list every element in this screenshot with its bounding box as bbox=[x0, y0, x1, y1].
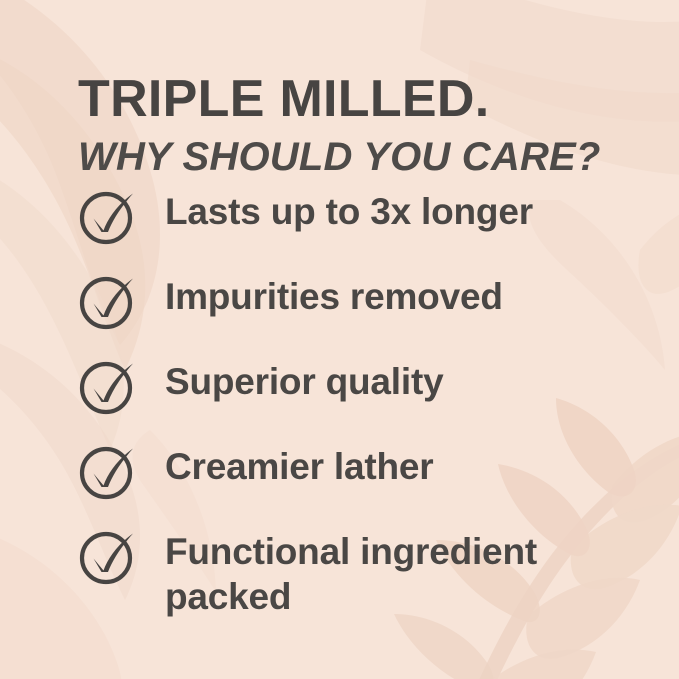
benefit-label: Impurities removed bbox=[165, 271, 638, 319]
benefit-label: Superior quality bbox=[165, 356, 638, 404]
benefit-label: Creamier lather bbox=[165, 441, 638, 489]
list-item: Creamier lather bbox=[78, 441, 638, 526]
benefit-list: Lasts up to 3x longer Impurities removed… bbox=[78, 186, 638, 619]
check-circle-icon bbox=[78, 525, 140, 587]
list-item: Functional ingredient packed bbox=[78, 526, 638, 619]
check-circle-icon bbox=[78, 270, 140, 332]
check-circle-icon bbox=[78, 440, 140, 502]
benefit-label: Functional ingredient packed bbox=[165, 526, 638, 619]
check-circle-icon bbox=[78, 355, 140, 417]
page-title: TRIPLE MILLED. bbox=[78, 73, 490, 125]
check-circle-icon bbox=[78, 185, 140, 247]
list-item: Superior quality bbox=[78, 356, 638, 441]
page-subtitle: WHY SHOULD YOU CARE? bbox=[78, 137, 601, 177]
content-layer: TRIPLE MILLED. WHY SHOULD YOU CARE? Last… bbox=[0, 0, 679, 679]
benefit-label: Lasts up to 3x longer bbox=[165, 186, 638, 234]
triple-milled-benefits-infographic: TRIPLE MILLED. WHY SHOULD YOU CARE? Last… bbox=[0, 0, 679, 679]
list-item: Lasts up to 3x longer bbox=[78, 186, 638, 271]
list-item: Impurities removed bbox=[78, 271, 638, 356]
